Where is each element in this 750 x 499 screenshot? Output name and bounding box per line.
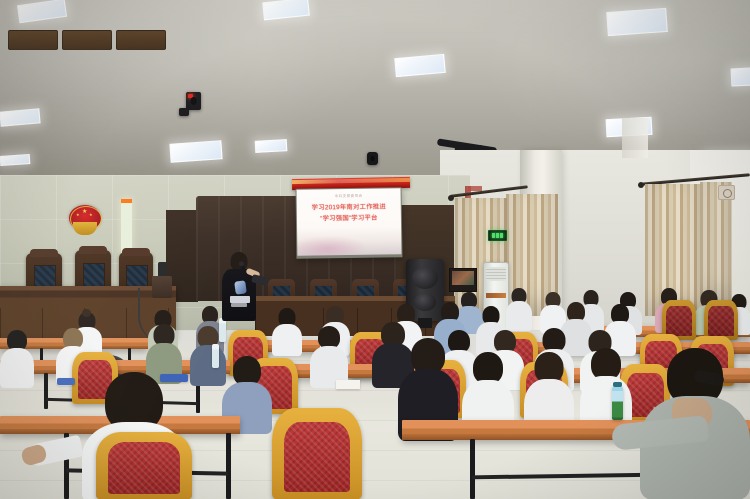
ac-panel-strip [486, 293, 506, 298]
bench-panel-1 [8, 30, 58, 50]
ceiling-panel-light [731, 67, 750, 86]
emblem-star-a: ★ [76, 212, 80, 218]
exit-glyph-3 [500, 233, 503, 238]
judge-chair-crown-right [122, 248, 149, 256]
ceiling-camera-mount [179, 108, 189, 116]
chair [96, 432, 192, 499]
clear-water-bottle [212, 344, 219, 368]
presenter-shirt-graphic [234, 280, 247, 294]
table-leg [226, 433, 231, 499]
attendee [310, 326, 348, 386]
judge-chair-crown-left [30, 249, 59, 257]
exit-glyph-1 [492, 233, 495, 238]
side-monitor [449, 268, 477, 292]
chair [704, 300, 738, 340]
chair-pad [666, 306, 691, 336]
presenter-shirt-text [230, 296, 250, 303]
ceiling-camera-icon [186, 92, 201, 110]
screen-glare [297, 235, 368, 256]
judge-chair-crown-center [79, 246, 108, 254]
speaker-cone-top [412, 267, 438, 289]
table-leg [470, 439, 475, 499]
photo-scene: ★ ★ ★ 中共支部委员会 学习2019年南对工作推进 “学习强国”学习平台 [0, 0, 750, 499]
emblem-star-center: ★ [82, 209, 87, 215]
green-water-bottle [612, 386, 623, 420]
wall-notice-icon [718, 185, 735, 200]
ceiling-camera-icon-2 [367, 152, 378, 165]
camera-lens-icon-2 [370, 156, 375, 162]
banner-gloss [292, 178, 410, 184]
presenter-shirt-text-2 [231, 303, 247, 307]
bench-panel-3 [116, 30, 166, 50]
bench-panel-2 [62, 30, 112, 50]
attendee [506, 288, 532, 330]
chair-pad [108, 442, 179, 494]
table-leg [44, 373, 48, 409]
curtain-right-2 [700, 182, 732, 302]
papers [336, 380, 360, 389]
national-emblem-icon: ★ ★ ★ [66, 203, 104, 239]
presenter-body [222, 269, 256, 321]
attendee-body [272, 324, 302, 356]
blue-folder [57, 378, 75, 385]
attendee-body [506, 301, 532, 331]
attendee-body [0, 348, 34, 388]
side-monitor-screen [452, 271, 474, 285]
projection-screen-frame: 中共支部委员会 学习2019年南对工作推进 “学习强国”学习平台 [296, 187, 403, 258]
emblem-star-b: ★ [89, 212, 93, 218]
curtain-rod-cap-left [448, 195, 454, 201]
exit-glyph-2 [496, 233, 499, 238]
screen-line-2: “学习强国”学习平台 [320, 213, 378, 223]
screen-header-text: 中共支部委员会 [335, 194, 363, 199]
upper-pillar [622, 118, 648, 158]
ac-vent-icon [486, 267, 506, 281]
bottle-cap [613, 382, 622, 387]
emblem-gate [73, 222, 97, 235]
ceiling-panel-light [169, 140, 222, 163]
ceiling-panel-light [0, 154, 30, 166]
exit-sign-icon [488, 230, 507, 241]
attendee [190, 326, 226, 384]
attendee-hair-bun [82, 309, 91, 317]
attendee [272, 308, 302, 354]
ceiling-panel-light [606, 8, 668, 36]
ceiling-panel-light [255, 139, 288, 153]
camera-lens-icon [190, 97, 197, 105]
chair-pad [708, 306, 733, 336]
attendee [0, 330, 34, 386]
screen-line-1: 学习2019年南对工作推进 [312, 201, 386, 211]
projection-screen: 中共支部委员会 学习2019年南对工作推进 “学习强国”学习平台 [297, 188, 402, 255]
curtain-rod-cap-right [638, 182, 644, 188]
attendee-body [190, 345, 226, 386]
chair [272, 408, 362, 499]
chair-pad [284, 422, 351, 492]
